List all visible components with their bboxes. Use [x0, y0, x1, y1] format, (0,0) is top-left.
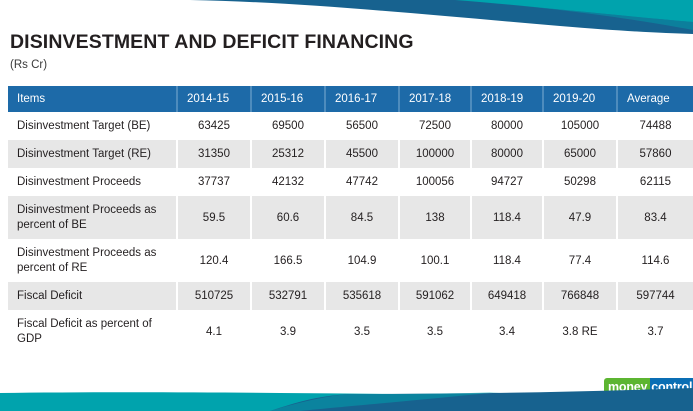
row-value: 57860 [618, 140, 693, 168]
table-row: Disinvestment Target (RE) 31350 25312 45… [8, 140, 693, 168]
table-row: Fiscal Deficit 510725 532791 535618 5910… [8, 282, 693, 310]
row-label: Disinvestment Target (RE) [8, 140, 178, 168]
column-header-items: Items [8, 86, 178, 112]
row-value: 80000 [472, 140, 544, 168]
row-value: 104.9 [326, 239, 400, 282]
row-label: Disinvestment Proceeds as percent of RE [8, 239, 178, 282]
row-value: 50298 [544, 168, 618, 196]
row-label: Disinvestment Proceeds as percent of BE [8, 196, 178, 239]
column-header-2018-19: 2018-19 [472, 86, 544, 112]
table-row: Disinvestment Target (BE) 63425 69500 56… [8, 112, 693, 140]
row-value: 100.1 [400, 239, 472, 282]
row-value: 118.4 [472, 196, 544, 239]
row-value: 65000 [544, 140, 618, 168]
row-value: 649418 [472, 282, 544, 310]
row-value: 3.7 [618, 310, 693, 353]
row-value: 166.5 [252, 239, 326, 282]
row-label: Disinvestment Proceeds [8, 168, 178, 196]
row-value: 100000 [400, 140, 472, 168]
row-value: 591062 [400, 282, 472, 310]
column-header-2014-15: 2014-15 [178, 86, 252, 112]
page-title: DISINVESTMENT AND DEFICIT FINANCING [10, 30, 414, 54]
row-label: Disinvestment Target (BE) [8, 112, 178, 140]
row-value: 60.6 [252, 196, 326, 239]
decorative-wave-bottom [0, 383, 693, 411]
row-value: 597744 [618, 282, 693, 310]
table-row: Fiscal Deficit as percent of GDP 4.1 3.9… [8, 310, 693, 353]
row-value: 84.5 [326, 196, 400, 239]
row-value: 47742 [326, 168, 400, 196]
table-row: Disinvestment Proceeds as percent of BE … [8, 196, 693, 239]
row-value: 83.4 [618, 196, 693, 239]
table-row: Disinvestment Proceeds as percent of RE … [8, 239, 693, 282]
row-value: 62115 [618, 168, 693, 196]
table-header-row: Items 2014-15 2015-16 2016-17 2017-18 20… [8, 86, 693, 112]
row-value: 72500 [400, 112, 472, 140]
column-header-2019-20: 2019-20 [544, 86, 618, 112]
row-value: 3.5 [326, 310, 400, 353]
row-value: 74488 [618, 112, 693, 140]
logo-control-text: control [650, 378, 693, 397]
row-value: 766848 [544, 282, 618, 310]
disinvestment-deficit-table: Items 2014-15 2015-16 2016-17 2017-18 20… [8, 86, 693, 353]
row-value: 105000 [544, 112, 618, 140]
column-header-2015-16: 2015-16 [252, 86, 326, 112]
row-value: 4.1 [178, 310, 252, 353]
row-value: 3.8 RE [544, 310, 618, 353]
decorative-wave-top [0, 0, 693, 34]
row-value: 80000 [472, 112, 544, 140]
row-label: Fiscal Deficit [8, 282, 178, 310]
row-value: 77.4 [544, 239, 618, 282]
page-subtitle: (Rs Cr) [10, 58, 414, 72]
row-value: 45500 [326, 140, 400, 168]
row-label: Fiscal Deficit as percent of GDP [8, 310, 178, 353]
row-value: 42132 [252, 168, 326, 196]
row-value: 69500 [252, 112, 326, 140]
row-value: 532791 [252, 282, 326, 310]
column-header-average: Average [618, 86, 693, 112]
row-value: 114.6 [618, 239, 693, 282]
row-value: 94727 [472, 168, 544, 196]
row-value: 47.9 [544, 196, 618, 239]
row-value: 3.5 [400, 310, 472, 353]
row-value: 63425 [178, 112, 252, 140]
row-value: 138 [400, 196, 472, 239]
row-value: 510725 [178, 282, 252, 310]
row-value: 535618 [326, 282, 400, 310]
row-value: 56500 [326, 112, 400, 140]
row-value: 59.5 [178, 196, 252, 239]
column-header-2016-17: 2016-17 [326, 86, 400, 112]
column-header-2017-18: 2017-18 [400, 86, 472, 112]
row-value: 100056 [400, 168, 472, 196]
row-value: 31350 [178, 140, 252, 168]
logo-money-text: money [604, 378, 650, 397]
row-value: 3.4 [472, 310, 544, 353]
title-block: DISINVESTMENT AND DEFICIT FINANCING (Rs … [10, 30, 414, 72]
table-row: Disinvestment Proceeds 37737 42132 47742… [8, 168, 693, 196]
moneycontrol-logo: money control [604, 378, 693, 397]
row-value: 118.4 [472, 239, 544, 282]
row-value: 120.4 [178, 239, 252, 282]
row-value: 25312 [252, 140, 326, 168]
row-value: 3.9 [252, 310, 326, 353]
row-value: 37737 [178, 168, 252, 196]
